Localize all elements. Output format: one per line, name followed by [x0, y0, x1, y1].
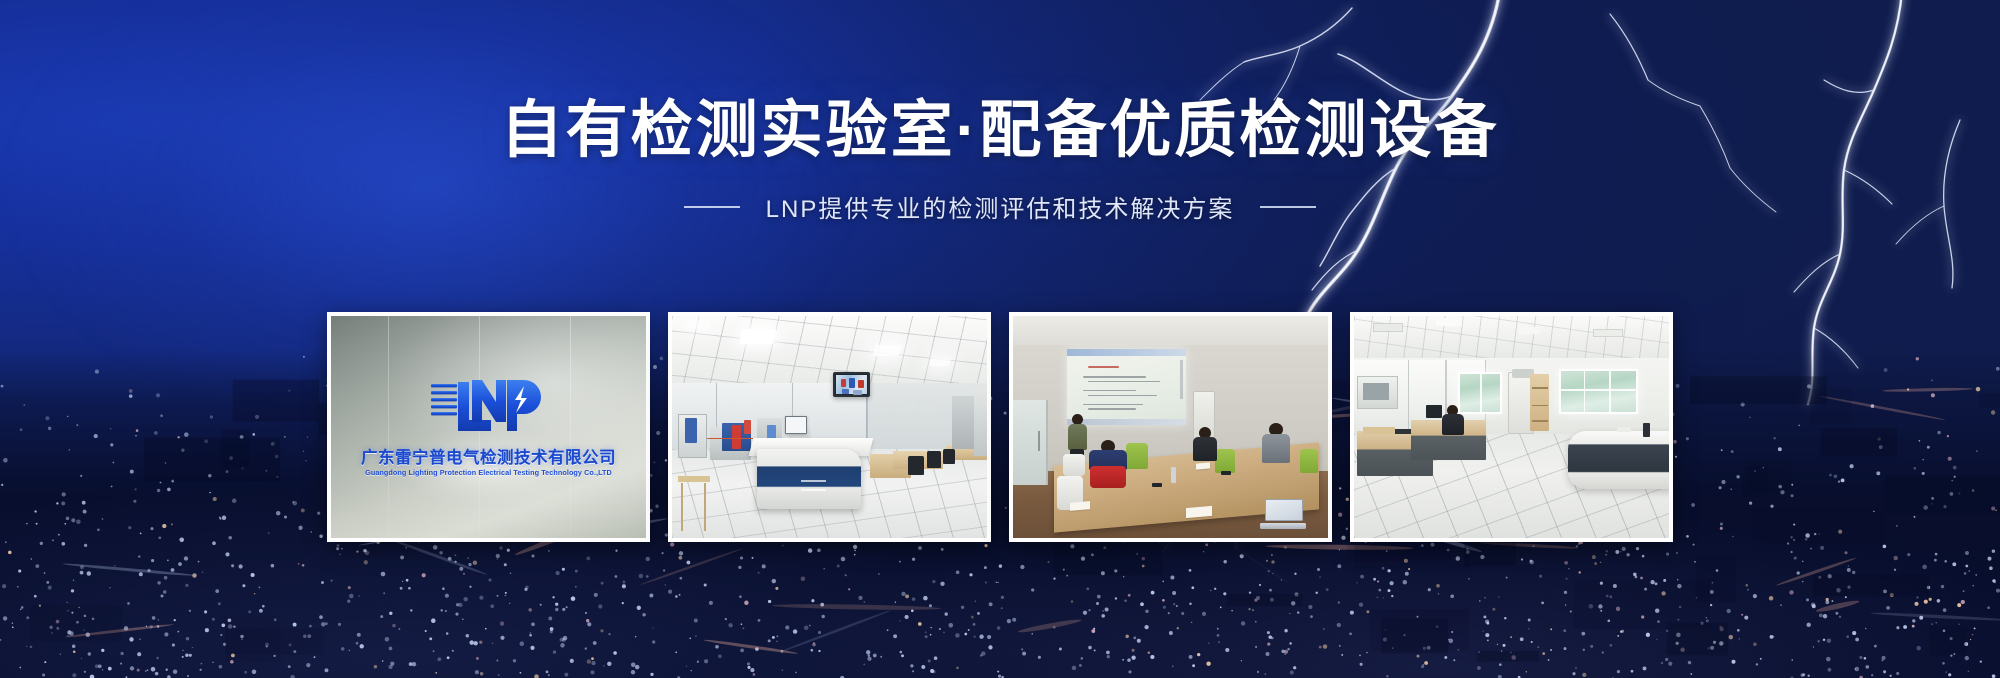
- company-name-cn: 广东雷宁普电气检测技术有限公司: [361, 444, 616, 468]
- gallery-card-meeting-room[interactable]: [1009, 312, 1332, 542]
- gallery-card-laboratory[interactable]: [668, 312, 991, 542]
- lab-scene: [672, 316, 987, 538]
- laptop-icon: [1260, 499, 1306, 529]
- meeting-room-photo: [1013, 316, 1328, 538]
- laboratory-photo: [672, 316, 987, 538]
- dash-right-icon: [1260, 206, 1316, 208]
- lnp-logo-icon: [425, 374, 553, 440]
- person-seated-right: [1262, 423, 1290, 463]
- office-scene: [1354, 316, 1669, 538]
- dash-left-icon: [684, 206, 740, 208]
- person-at-desk: [1442, 405, 1464, 435]
- gallery-card-company-sign[interactable]: 广东雷宁普电气检测技术有限公司 Guangdong Lighting Prote…: [327, 312, 650, 542]
- subtitle-row: LNP提供专业的检测评估和技术解决方案: [0, 189, 2000, 224]
- window-right: [1559, 369, 1638, 413]
- wall-monitor-icon: [833, 372, 870, 397]
- meeting-scene: [1013, 316, 1328, 538]
- console-monitor-icon: [785, 416, 807, 434]
- control-console: [757, 449, 861, 509]
- office-photo: [1354, 316, 1669, 538]
- company-sign-photo: 广东雷宁普电气检测技术有限公司 Guangdong Lighting Prote…: [331, 316, 646, 538]
- company-name-en: Guangdong Lighting Protection Electrical…: [365, 468, 612, 477]
- bookshelf: [1530, 374, 1549, 432]
- page-subtitle: LNP提供专业的检测评估和技术解决方案: [766, 189, 1235, 224]
- headline-block: 自有检测实验室·配备优质检测设备 LNP提供专业的检测评估和技术解决方案: [0, 96, 2000, 224]
- person-red-jacket: [1089, 440, 1129, 488]
- reception-counter: [1568, 431, 1669, 489]
- hero-banner: 自有检测实验室·配备优质检测设备 LNP提供专业的检测评估和技术解决方案: [0, 0, 2000, 678]
- person-seated-mid: [1193, 427, 1217, 461]
- page-title: 自有检测实验室·配备优质检测设备: [0, 96, 2000, 165]
- gallery-card-office[interactable]: [1350, 312, 1673, 542]
- photo-gallery: 广东雷宁普电气检测技术有限公司 Guangdong Lighting Prote…: [0, 312, 2000, 542]
